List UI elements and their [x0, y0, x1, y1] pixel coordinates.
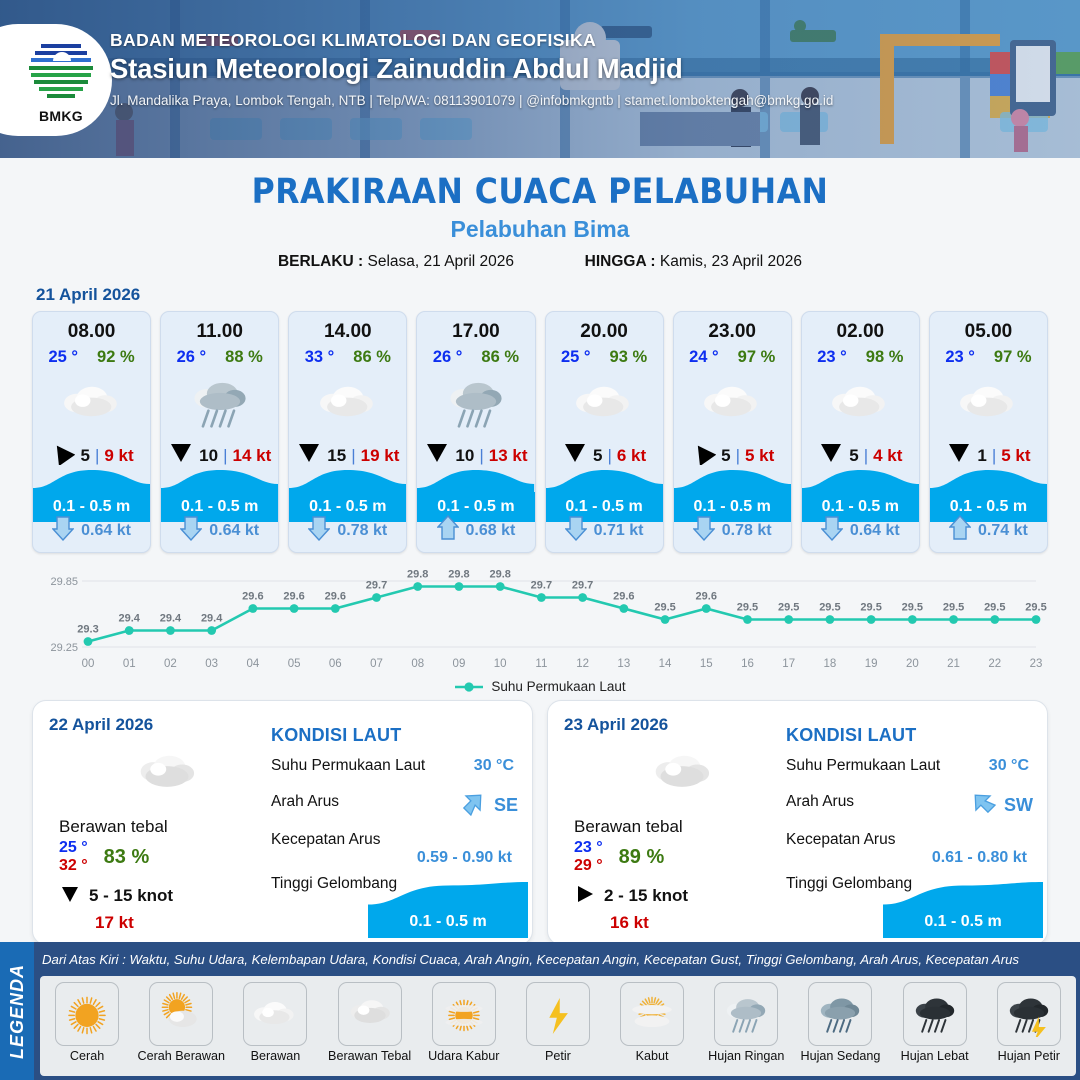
svg-text:29.7: 29.7 [366, 580, 387, 592]
day2-current-direction: SE [460, 789, 518, 822]
day2-weather-icon [59, 745, 274, 803]
card-humidity: 86 % [353, 348, 391, 367]
svg-text:19: 19 [865, 658, 878, 670]
day3-sst-label: Suhu Permukaan Laut [786, 757, 940, 774]
card-wind: 5 | 6 kt [546, 441, 663, 470]
card-gust: 9 kt [104, 446, 133, 466]
day3-temp-max: 29 ° [574, 857, 603, 875]
wind-gust-separator: | [992, 446, 996, 466]
card-weather-icon [161, 371, 278, 433]
card-wave-zone: 0.1 - 0.5 m 0.64 kt [161, 468, 278, 552]
day2-wave-value: 0.1 - 0.5 m [409, 913, 486, 931]
svg-text:29.5: 29.5 [943, 602, 964, 614]
current-direction-icon [565, 515, 587, 546]
port-name: Pelabuhan Bima [0, 216, 1080, 243]
day3-gust: 16 kt [610, 913, 789, 933]
card-wave-height: 0.1 - 0.5 m [950, 498, 1027, 516]
card-gust: 4 kt [873, 446, 902, 466]
current-direction-icon [693, 515, 715, 546]
day3-wave-value: 0.1 - 0.5 m [924, 913, 1001, 931]
card-weather-icon [546, 371, 663, 433]
svg-text:14: 14 [659, 658, 672, 670]
svg-text:22: 22 [988, 658, 1001, 670]
card-wind-speed: 5 [721, 446, 730, 466]
day3-humidity: 89 % [619, 846, 665, 869]
card-current-speed: 0.78 kt [722, 522, 772, 540]
day2-sst-value: 30 °C [474, 757, 514, 775]
card-wind-speed: 10 [199, 446, 218, 466]
card-temperature: 25 ° [48, 348, 78, 367]
card-gust: 13 kt [489, 446, 528, 466]
bmkg-logo: BMKG [0, 24, 112, 136]
legend-item-label: Cerah Berawan [135, 1049, 227, 1063]
card-humidity: 97 % [738, 348, 776, 367]
legend-udara-kabur-icon [432, 982, 496, 1046]
card-wave-zone: 0.1 - 0.5 m 0.74 kt [930, 468, 1047, 552]
card-gust: 19 kt [361, 446, 400, 466]
current-direction-icon [437, 515, 459, 546]
day3-wave-graphic: 0.1 - 0.5 m [883, 882, 1043, 938]
card-current-speed: 0.74 kt [978, 522, 1028, 540]
card-weather-icon [33, 371, 150, 433]
wind-direction-icon [562, 441, 588, 470]
svg-text:29.6: 29.6 [325, 591, 346, 603]
arrow-sw-icon [970, 789, 1000, 822]
day2-wind-range: 5 - 15 knot [89, 886, 173, 906]
svg-text:29.5: 29.5 [984, 602, 1005, 614]
card-current: 0.74 kt [930, 515, 1047, 546]
agency-name: BADAN METEOROLOGI KLIMATOLOGI DAN GEOFIS… [110, 30, 833, 51]
day2-wave-graphic: 0.1 - 0.5 m [368, 882, 528, 938]
card-temperature: 23 ° [817, 348, 847, 367]
day3-sea-title: KONDISI LAUT [786, 725, 1033, 746]
card-wave-zone: 0.1 - 0.5 m 0.64 kt [33, 468, 150, 552]
wind-direction-icon [946, 441, 972, 470]
card-weather-icon [930, 371, 1047, 433]
card-wind-speed: 5 [80, 446, 89, 466]
wind-direction-icon [574, 884, 596, 909]
station-name: Stasiun Meteorologi Zainuddin Abdul Madj… [110, 53, 833, 85]
card-humidity: 92 % [97, 348, 135, 367]
svg-text:29.7: 29.7 [531, 580, 552, 592]
card-wave-height: 0.1 - 0.5 m [694, 498, 771, 516]
legend-item: Kabut [606, 982, 698, 1063]
svg-text:29.6: 29.6 [283, 591, 304, 603]
legend-item: Hujan Petir [983, 982, 1075, 1063]
legend-item: Hujan Lebat [889, 982, 981, 1063]
svg-text:20: 20 [906, 658, 919, 670]
forecast-card: 08.00 25 ° 92 % 5 | 9 kt 0.1 - 0.5 m [32, 311, 151, 553]
wind-gust-separator: | [736, 446, 740, 466]
svg-text:29.5: 29.5 [737, 602, 758, 614]
wind-direction-icon [59, 884, 81, 909]
legend-hujan-petir-icon [997, 982, 1061, 1046]
day2-sea-title: KONDISI LAUT [271, 725, 518, 746]
hourly-forecast-row: 08.00 25 ° 92 % 5 | 9 kt 0.1 - 0.5 m [0, 311, 1080, 553]
card-wind-speed: 5 [849, 446, 858, 466]
legend-hujan-sedang-icon [808, 982, 872, 1046]
wind-direction-icon [168, 441, 194, 470]
day2-sst-label: Suhu Permukaan Laut [271, 757, 425, 774]
legend-kabut-icon [620, 982, 684, 1046]
card-time: 11.00 [161, 321, 278, 343]
card-wave-height: 0.1 - 0.5 m [53, 498, 130, 516]
card-humidity: 98 % [866, 348, 904, 367]
page-header: BMKG BADAN METEOROLOGI KLIMATOLOGI DAN G… [0, 0, 1080, 158]
card-temperature: 25 ° [561, 348, 591, 367]
card-gust: 5 kt [1001, 446, 1030, 466]
card-current: 0.64 kt [33, 515, 150, 546]
card-wave-zone: 0.1 - 0.5 m 0.68 kt [417, 468, 534, 552]
card-wave-height: 0.1 - 0.5 m [309, 498, 386, 516]
berlaku-value: Selasa, 21 April 2026 [368, 253, 515, 270]
day2-condition: Berawan tebal [59, 817, 274, 837]
card-current-speed: 0.64 kt [850, 522, 900, 540]
legend-petir-icon [526, 982, 590, 1046]
wind-direction-icon [690, 441, 716, 470]
card-current: 0.78 kt [289, 515, 406, 546]
forecast-card: 17.00 26 ° 86 % 10 | 13 kt 0.1 - 0.5 m [416, 311, 535, 553]
hingga-label: HINGGA : [585, 253, 656, 270]
svg-text:04: 04 [246, 658, 259, 670]
svg-text:29.4: 29.4 [201, 613, 223, 625]
svg-text:13: 13 [617, 658, 630, 670]
legend-note: Dari Atas Kiri : Waktu, Suhu Udara, Kele… [42, 952, 1074, 967]
svg-text:29.3: 29.3 [77, 624, 98, 636]
card-wind: 10 | 14 kt [161, 441, 278, 470]
current-direction-icon [821, 515, 843, 546]
card-wind: 5 | 9 kt [33, 441, 150, 470]
current-direction-icon [308, 515, 330, 546]
svg-text:18: 18 [824, 658, 837, 670]
card-wind-speed: 1 [977, 446, 986, 466]
day2-current-dir-label: Arah Arus [271, 793, 339, 810]
forecast-card: 20.00 25 ° 93 % 5 | 6 kt 0.1 - 0.5 m [545, 311, 664, 553]
card-wind-speed: 5 [593, 446, 602, 466]
card-time: 17.00 [417, 321, 534, 343]
day2-current-dir-value: SE [494, 795, 518, 816]
svg-text:29.6: 29.6 [613, 591, 634, 603]
card-temperature: 26 ° [433, 348, 463, 367]
validity-range: BERLAKU : Selasa, 21 April 2026 HINGGA :… [0, 253, 1080, 271]
svg-text:09: 09 [453, 658, 466, 670]
day2-current-speed-label: Kecepatan Arus [271, 831, 380, 848]
svg-text:01: 01 [123, 658, 136, 670]
card-weather-icon [802, 371, 919, 433]
day2-summary: Berawan tebal 25 ° 32 ° 83 % 5 - 15 knot… [59, 745, 274, 933]
contact-line: Jl. Mandalika Praya, Lombok Tengah, NTB … [110, 93, 833, 108]
card-time: 20.00 [546, 321, 663, 343]
card-time: 14.00 [289, 321, 406, 343]
card-wave-zone: 0.1 - 0.5 m 0.71 kt [546, 468, 663, 552]
card-current-speed: 0.71 kt [594, 522, 644, 540]
svg-text:29.6: 29.6 [696, 591, 717, 603]
wind-direction-icon [424, 441, 450, 470]
hingga-value: Kamis, 23 April 2026 [660, 253, 802, 270]
card-wave-zone: 0.1 - 0.5 m 0.78 kt [674, 468, 791, 552]
card-current: 0.64 kt [802, 515, 919, 546]
card-wind: 15 | 19 kt [289, 441, 406, 470]
legend-strip: LEGENDA Dari Atas Kiri : Waktu, Suhu Uda… [0, 942, 1080, 1080]
card-humidity: 93 % [610, 348, 648, 367]
title-block: PRAKIRAAN CUACA PELABUHAN Pelabuhan Bima… [0, 158, 1080, 271]
legend-cerah-berawan-icon [149, 982, 213, 1046]
arrow-se-icon [460, 789, 490, 822]
day2-wind: 5 - 15 knot [59, 884, 274, 909]
legend-item: Hujan Ringan [700, 982, 792, 1063]
card-weather-icon [289, 371, 406, 433]
svg-text:05: 05 [288, 658, 301, 670]
day1-date: 21 April 2026 [36, 285, 1080, 305]
day2-temp-min: 25 ° [59, 839, 88, 857]
day2-humidity: 83 % [104, 846, 150, 869]
legend-label: Suhu Permukaan Laut [491, 679, 625, 694]
card-wave-zone: 0.1 - 0.5 m 0.78 kt [289, 468, 406, 552]
card-current: 0.71 kt [546, 515, 663, 546]
legend-berawan-tebal-icon [338, 982, 402, 1046]
wind-gust-separator: | [351, 446, 355, 466]
svg-text:29.5: 29.5 [654, 602, 675, 614]
svg-text:23: 23 [1030, 658, 1043, 670]
card-time: 02.00 [802, 321, 919, 343]
svg-text:21: 21 [947, 658, 960, 670]
legend-marker-icon [454, 681, 484, 693]
day2-panel: 22 April 2026 Berawan tebal 25 ° 32 ° 83… [32, 700, 533, 945]
card-temperature: 23 ° [945, 348, 975, 367]
forecast-card: 11.00 26 ° 88 % 10 | 14 kt 0.1 - 0.5 m [160, 311, 279, 553]
day3-sst-value: 30 °C [989, 757, 1029, 775]
card-current-speed: 0.78 kt [337, 522, 387, 540]
svg-text:16: 16 [741, 658, 754, 670]
svg-text:29.5: 29.5 [778, 602, 799, 614]
card-wind: 1 | 5 kt [930, 441, 1047, 470]
day3-summary: Berawan tebal 23 ° 29 ° 89 % 2 - 15 knot… [574, 745, 789, 933]
card-wind: 10 | 13 kt [417, 441, 534, 470]
berlaku-label: BERLAKU : [278, 253, 363, 270]
svg-text:29.6: 29.6 [242, 591, 263, 603]
legend-item: Berawan Tebal [324, 982, 416, 1063]
legend-cerah-icon [55, 982, 119, 1046]
svg-text:29.85: 29.85 [50, 576, 78, 588]
wind-direction-icon [296, 441, 322, 470]
legend-item-label: Hujan Ringan [700, 1049, 792, 1063]
daily-panels: 22 April 2026 Berawan tebal 25 ° 32 ° 83… [0, 694, 1080, 945]
day3-condition: Berawan tebal [574, 817, 789, 837]
svg-text:29.5: 29.5 [819, 602, 840, 614]
legend-item-label: Kabut [606, 1049, 698, 1063]
legend-item-label: Hujan Sedang [794, 1049, 886, 1063]
legend-item: Cerah Berawan [135, 982, 227, 1063]
card-current: 0.78 kt [674, 515, 791, 546]
card-wind-speed: 15 [327, 446, 346, 466]
day3-sea-conditions: KONDISI LAUT Suhu Permukaan Laut 30 °C A… [786, 725, 1033, 897]
card-temperature: 26 ° [177, 348, 207, 367]
legend-item-label: Hujan Petir [983, 1049, 1075, 1063]
svg-text:29.4: 29.4 [119, 613, 141, 625]
current-direction-icon [949, 515, 971, 546]
day3-wind-range: 2 - 15 knot [604, 886, 688, 906]
card-wave-zone: 0.1 - 0.5 m 0.64 kt [802, 468, 919, 552]
card-current-speed: 0.68 kt [466, 522, 516, 540]
card-wave-height: 0.1 - 0.5 m [565, 498, 642, 516]
forecast-card: 23.00 24 ° 97 % 5 | 5 kt 0.1 - 0.5 m [673, 311, 792, 553]
svg-text:29.4: 29.4 [160, 613, 182, 625]
card-weather-icon [674, 371, 791, 433]
card-wind-speed: 10 [455, 446, 474, 466]
card-current-speed: 0.64 kt [209, 522, 259, 540]
wind-gust-separator: | [607, 446, 611, 466]
legend-item-label: Cerah [41, 1049, 133, 1063]
svg-text:12: 12 [576, 658, 589, 670]
bmkg-logo-text: BMKG [24, 108, 98, 124]
sst-chart: 29.8529.2529.30029.40129.40229.40329.604… [30, 567, 1050, 677]
day3-current-dir-value: SW [1004, 795, 1033, 816]
svg-text:06: 06 [329, 658, 342, 670]
legend-side-label: LEGENDA [0, 942, 34, 1080]
svg-text:17: 17 [782, 658, 795, 670]
legend-item: Berawan [229, 982, 321, 1063]
legend-berawan-icon [243, 982, 307, 1046]
svg-text:29.7: 29.7 [572, 580, 593, 592]
card-temperature: 24 ° [689, 348, 719, 367]
svg-text:02: 02 [164, 658, 177, 670]
card-wave-height: 0.1 - 0.5 m [822, 498, 899, 516]
card-gust: 5 kt [745, 446, 774, 466]
card-gust: 6 kt [617, 446, 646, 466]
svg-text:29.8: 29.8 [407, 569, 428, 581]
forecast-card: 05.00 23 ° 97 % 1 | 5 kt 0.1 - 0.5 m [929, 311, 1048, 553]
svg-text:15: 15 [700, 658, 713, 670]
card-wind: 5 | 4 kt [802, 441, 919, 470]
card-time: 08.00 [33, 321, 150, 343]
header-text-block: BADAN METEOROLOGI KLIMATOLOGI DAN GEOFIS… [110, 30, 833, 108]
chart-legend: Suhu Permukaan Laut [0, 679, 1080, 694]
wind-gust-separator: | [223, 446, 227, 466]
svg-text:29.8: 29.8 [489, 569, 510, 581]
card-gust: 14 kt [232, 446, 271, 466]
day3-current-speed-label: Kecepatan Arus [786, 831, 895, 848]
legend-item: Petir [512, 982, 604, 1063]
forecast-card: 02.00 23 ° 98 % 5 | 4 kt 0.1 - 0.5 m [801, 311, 920, 553]
day3-weather-icon [574, 745, 789, 803]
legend-item: Cerah [41, 982, 133, 1063]
card-wind: 5 | 5 kt [674, 441, 791, 470]
svg-text:07: 07 [370, 658, 383, 670]
day3-current-dir-label: Arah Arus [786, 793, 854, 810]
card-humidity: 97 % [994, 348, 1032, 367]
card-humidity: 88 % [225, 348, 263, 367]
card-wave-height: 0.1 - 0.5 m [437, 498, 514, 516]
legend-item-label: Udara Kabur [418, 1049, 510, 1063]
card-current: 0.68 kt [417, 515, 534, 546]
card-wave-height: 0.1 - 0.5 m [181, 498, 258, 516]
svg-text:29.5: 29.5 [860, 602, 881, 614]
current-direction-icon [52, 515, 74, 546]
svg-text:10: 10 [494, 658, 507, 670]
legend-hujan-lebat-icon [903, 982, 967, 1046]
svg-text:29.25: 29.25 [50, 642, 78, 654]
card-current-speed: 0.64 kt [81, 522, 131, 540]
wind-gust-separator: | [95, 446, 99, 466]
card-time: 23.00 [674, 321, 791, 343]
card-current: 0.64 kt [161, 515, 278, 546]
svg-text:29.8: 29.8 [448, 569, 469, 581]
wind-gust-separator: | [479, 446, 483, 466]
day3-wind: 2 - 15 knot [574, 884, 789, 909]
wind-direction-icon [818, 441, 844, 470]
legend-item-label: Petir [512, 1049, 604, 1063]
page-title: PRAKIRAAN CUACA PELABUHAN [0, 172, 1080, 212]
legend-icon-list: Cerah Cerah Berawan Berawan Berawan Teba… [40, 976, 1076, 1076]
legend-item: Udara Kabur [418, 982, 510, 1063]
bmkg-logo-emblem [27, 36, 95, 104]
wind-direction-icon [49, 441, 75, 470]
day3-panel: 23 April 2026 Berawan tebal 23 ° 29 ° 89… [547, 700, 1048, 945]
forecast-card: 14.00 33 ° 86 % 15 | 19 kt 0.1 - 0.5 m [288, 311, 407, 553]
day2-sea-conditions: KONDISI LAUT Suhu Permukaan Laut 30 °C A… [271, 725, 518, 897]
day3-current-direction: SW [970, 789, 1033, 822]
current-direction-icon [180, 515, 202, 546]
wind-gust-separator: | [864, 446, 868, 466]
legend-item-label: Berawan [229, 1049, 321, 1063]
svg-text:00: 00 [82, 658, 95, 670]
card-humidity: 86 % [481, 348, 519, 367]
day2-temp-max: 32 ° [59, 857, 88, 875]
svg-text:08: 08 [411, 658, 424, 670]
legend-item-label: Berawan Tebal [324, 1049, 416, 1063]
legend-item: Hujan Sedang [794, 982, 886, 1063]
legend-item-label: Hujan Lebat [889, 1049, 981, 1063]
svg-text:03: 03 [205, 658, 218, 670]
card-temperature: 33 ° [305, 348, 335, 367]
card-time: 05.00 [930, 321, 1047, 343]
day2-gust: 17 kt [95, 913, 274, 933]
svg-text:29.5: 29.5 [1025, 602, 1046, 614]
svg-text:29.5: 29.5 [902, 602, 923, 614]
legend-hujan-ringan-icon [714, 982, 778, 1046]
day3-temp-min: 23 ° [574, 839, 603, 857]
card-weather-icon [417, 371, 534, 433]
svg-text:11: 11 [535, 658, 547, 670]
